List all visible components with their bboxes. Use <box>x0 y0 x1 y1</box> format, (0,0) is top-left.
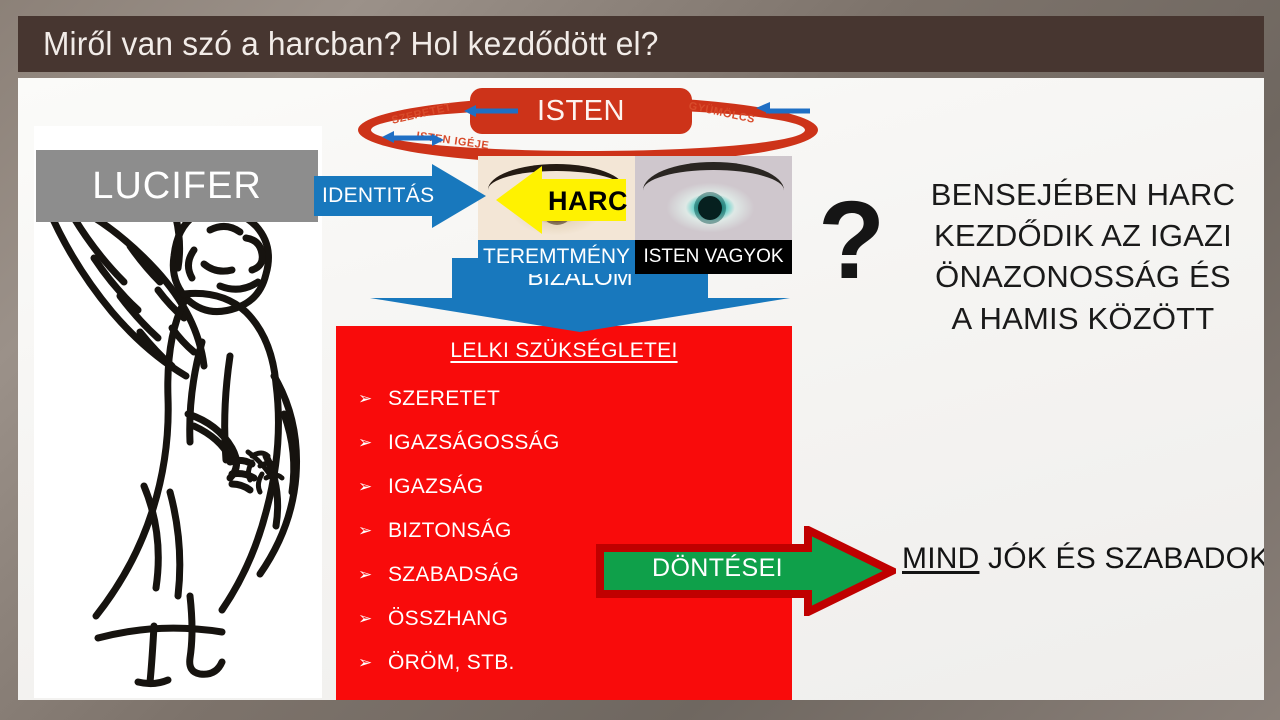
list-item-label: BIZTONSÁG <box>388 519 512 543</box>
list-item-label: SZERETET <box>388 387 500 411</box>
cycle-arrow-left-icon <box>462 102 520 120</box>
eye-image-god <box>635 156 792 248</box>
slide-content-panel: LUCIFER ISTEN SZERETET ISTEN IGÉJE GYÜMÖ… <box>18 78 1264 700</box>
spiritual-needs-box: LELKI SZÜKSÉGLETEI ➢ SZERETET ➢ IGAZSÁGO… <box>336 326 792 700</box>
dontesei-label: DÖNTÉSEI <box>652 554 783 583</box>
bullet-arrow-icon: ➢ <box>358 653 388 673</box>
harc-arrow: HARC <box>496 166 626 234</box>
list-item-label: IGAZSÁG <box>388 475 483 499</box>
list-item: ➢ IGAZSÁG <box>358 465 792 509</box>
page-title: Miről van szó a harcban? Hol kezdődött e… <box>18 25 659 63</box>
list-item-label: ÖSSZHANG <box>388 607 508 631</box>
arrow-head <box>370 298 790 332</box>
arrow-head <box>432 164 486 228</box>
bullet-arrow-icon: ➢ <box>358 565 388 585</box>
identitas-arrow: IDENTITÁS <box>314 164 486 228</box>
dontesei-arrow: DÖNTÉSEI <box>596 526 896 616</box>
list-item-label: SZABADSÁG <box>388 563 519 587</box>
bullet-arrow-icon: ➢ <box>358 389 388 409</box>
question-mark: ? <box>818 186 885 296</box>
caption-isten-vagyok: ISTEN VAGYOK <box>635 240 792 274</box>
isten-label: ISTEN <box>537 95 625 128</box>
lucifer-label: LUCIFER <box>92 165 262 208</box>
bullet-arrow-icon: ➢ <box>358 477 388 497</box>
identitas-label: IDENTITÁS <box>322 184 434 208</box>
list-item-label: ÖRÖM, STB. <box>388 651 515 675</box>
list-item: ➢ IGAZSÁGOSSÁG <box>358 421 792 465</box>
slide-title-bar: Miről van szó a harcban? Hol kezdődött e… <box>18 16 1264 72</box>
paragraph-line: KEZDŐDIK AZ IGAZI <box>888 215 1264 256</box>
lucifer-label-box: LUCIFER <box>36 150 318 222</box>
list-item-label: IGAZSÁGOSSÁG <box>388 431 560 455</box>
arrow-head <box>496 166 542 234</box>
bullet-arrow-icon: ➢ <box>358 609 388 629</box>
paragraph-line: A HAMIS KÖZÖTT <box>888 298 1264 339</box>
bullet-arrow-icon: ➢ <box>358 521 388 541</box>
outcome-underlined: MIND <box>902 542 979 575</box>
list-item: ➢ ÖRÖM, STB. <box>358 641 792 685</box>
paragraph-line: ÖNAZONOSSÁG ÉS <box>888 256 1264 297</box>
right-paragraph: BENSEJÉBEN HARC KEZDŐDIK AZ IGAZI ÖNAZON… <box>888 174 1264 339</box>
bullet-arrow-icon: ➢ <box>358 433 388 453</box>
caption-teremtmeny: TEREMTMÉNY <box>478 240 635 274</box>
harc-label: HARC <box>548 186 628 217</box>
cycle-arrow-bottom-icon <box>380 130 446 148</box>
outcome-rest: JÓK ÉS SZABADOK <box>979 542 1264 575</box>
outcome-line: MIND JÓK ÉS SZABADOK <box>902 542 1264 576</box>
list-item: ➢ SZERETET <box>358 377 792 421</box>
cycle-arrow-right-icon <box>754 100 812 118</box>
paragraph-line: BENSEJÉBEN HARC <box>888 174 1264 215</box>
